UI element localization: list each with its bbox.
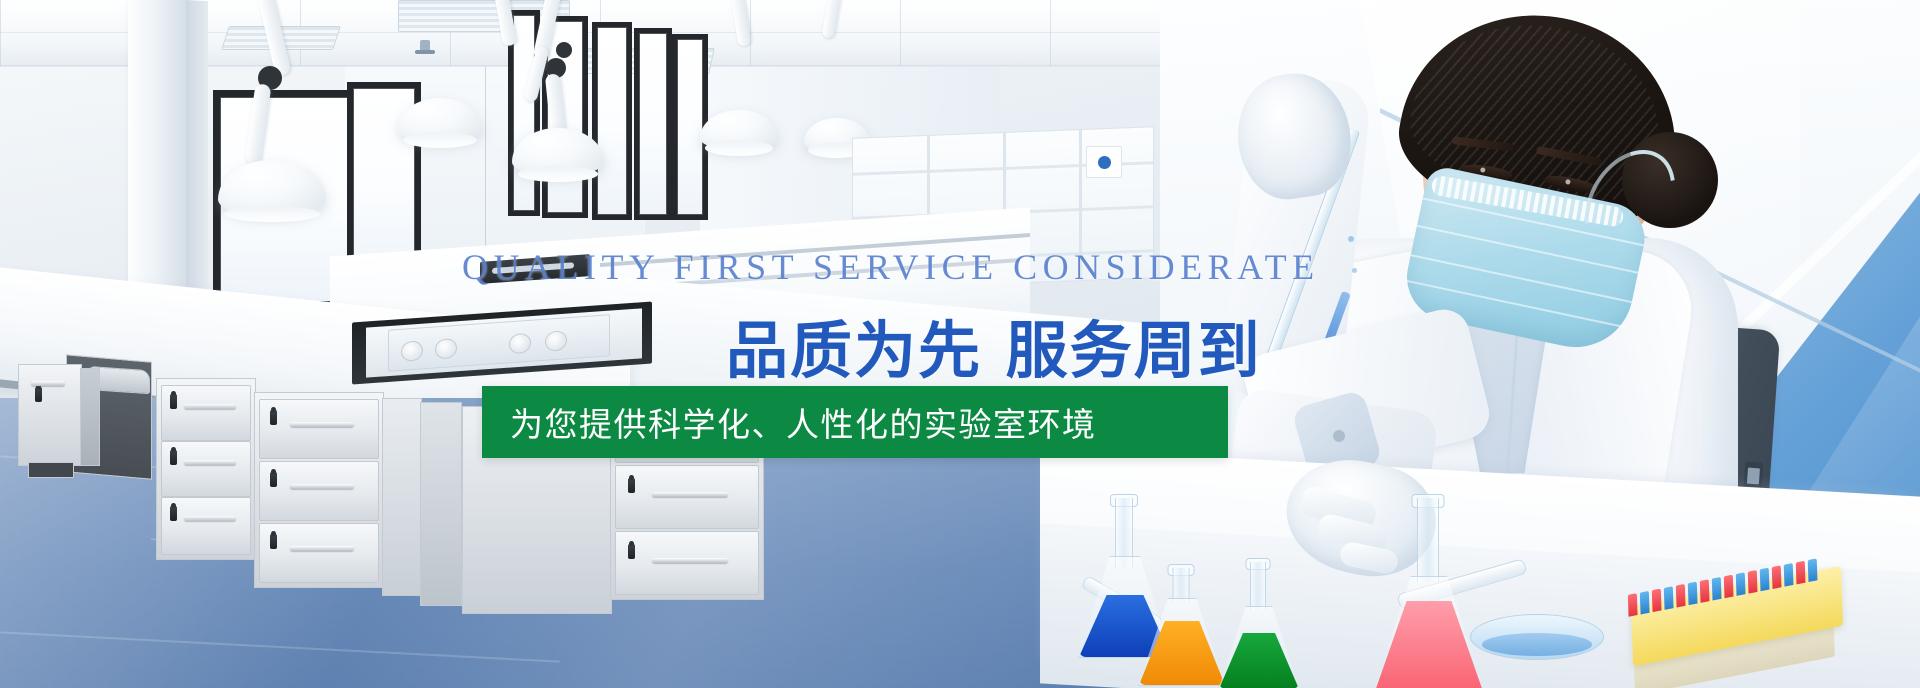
cabinet-drawer [259, 399, 379, 459]
erlenmeyer-flask-pink [1372, 498, 1484, 688]
cabinet-lock-icon [270, 472, 277, 487]
pipette-tip [1736, 572, 1746, 596]
pipette-tip [1808, 558, 1818, 582]
cabinet-side-panel [420, 402, 462, 606]
lab-window [592, 22, 632, 220]
petri-dish [1470, 614, 1604, 660]
flask-neck [1250, 562, 1266, 610]
lamp-joint [556, 42, 572, 58]
cabinet-handle [290, 422, 354, 427]
cabinet-handle [652, 558, 728, 563]
flask-liquid [1373, 601, 1485, 688]
cabinet-foot [28, 462, 74, 478]
power-socket [401, 340, 423, 362]
flask-body [1138, 598, 1226, 686]
pipette-tip [1664, 586, 1674, 610]
pipette-tip [1796, 561, 1806, 585]
pipette-tip [1688, 582, 1698, 606]
lab-bench-cabinet [18, 364, 82, 466]
power-socket [435, 338, 457, 360]
erlenmeyer-flask-orange [1138, 568, 1224, 686]
power-socket [509, 333, 531, 355]
cabinet-drawer [615, 465, 759, 529]
banner-headline-chinese: 品质为先 服务周到 [726, 300, 1262, 390]
cabinet-handle [184, 404, 236, 409]
cabinet-drawer [259, 523, 379, 583]
cabinet-drawer [615, 531, 759, 595]
hero-banner: QUALITY FIRST SERVICE CONSIDERATE 品质为先 服… [0, 0, 1920, 688]
cabinet-lock-icon [35, 387, 42, 402]
cabinet-lock-icon [170, 450, 177, 465]
flask-liquid [1219, 633, 1299, 688]
cabinet-handle [290, 484, 354, 489]
cabinet-lock-icon [170, 506, 177, 521]
cabinet-handle [184, 460, 236, 465]
pipette-tip [1772, 565, 1782, 589]
cabinet-lock-icon [270, 534, 277, 549]
power-socket [545, 330, 567, 352]
pipette-tip [1676, 584, 1686, 608]
banner-subtitle-bar: 为您提供科学化、人性化的实验室环境 [482, 386, 1228, 458]
banner-headline-english: QUALITY FIRST SERVICE CONSIDERATE [462, 246, 1320, 288]
pipette-tip [1724, 575, 1734, 599]
flask-body [1372, 576, 1486, 688]
cabinet-lock-icon [270, 410, 277, 425]
flask-neck [1417, 498, 1439, 582]
cabinet-side-panel [382, 398, 422, 596]
liquid-droplet [1348, 236, 1354, 242]
pipette-tip [1628, 593, 1638, 617]
lab-window [634, 28, 672, 220]
cabinet-lock-icon [170, 394, 177, 409]
flask-neck [1173, 568, 1190, 602]
mask-pleat [1411, 254, 1632, 303]
flask-liquid [1139, 621, 1225, 685]
pipette-tip [1700, 579, 1710, 603]
cabinet-drawer [259, 461, 379, 521]
pipette-tip [1652, 589, 1662, 613]
cabinet-handle [31, 381, 65, 386]
wall-logo-sign [1086, 146, 1122, 178]
cabinet-side-panel [80, 368, 100, 466]
flask-body [1218, 606, 1300, 688]
cabinet-drawer [161, 497, 251, 555]
pipette-tip [1748, 570, 1758, 594]
cabinet-handle [184, 516, 236, 521]
sprinkler-head-icon [420, 40, 430, 54]
lab-bench-cabinet [254, 392, 384, 588]
cabinet-drawer [161, 385, 251, 441]
pipette-tip [1640, 591, 1650, 615]
pipette-tip [1784, 563, 1794, 587]
cabinet-handle [652, 492, 728, 497]
cabinet-drawer [161, 441, 251, 497]
cabinet-lock-icon [628, 544, 635, 559]
cabinet-handle [290, 546, 354, 551]
banner-subtitle-text: 为您提供科学化、人性化的实验室环境 [482, 398, 1097, 446]
liquid-droplet [1352, 268, 1357, 273]
lab-bench-cabinet [156, 378, 256, 560]
pipette-tip [1712, 577, 1722, 601]
cuff-button [1333, 430, 1345, 442]
pipette-tip [1760, 568, 1770, 592]
cabinet-lock-icon [628, 478, 635, 493]
erlenmeyer-flask-green [1218, 562, 1298, 688]
